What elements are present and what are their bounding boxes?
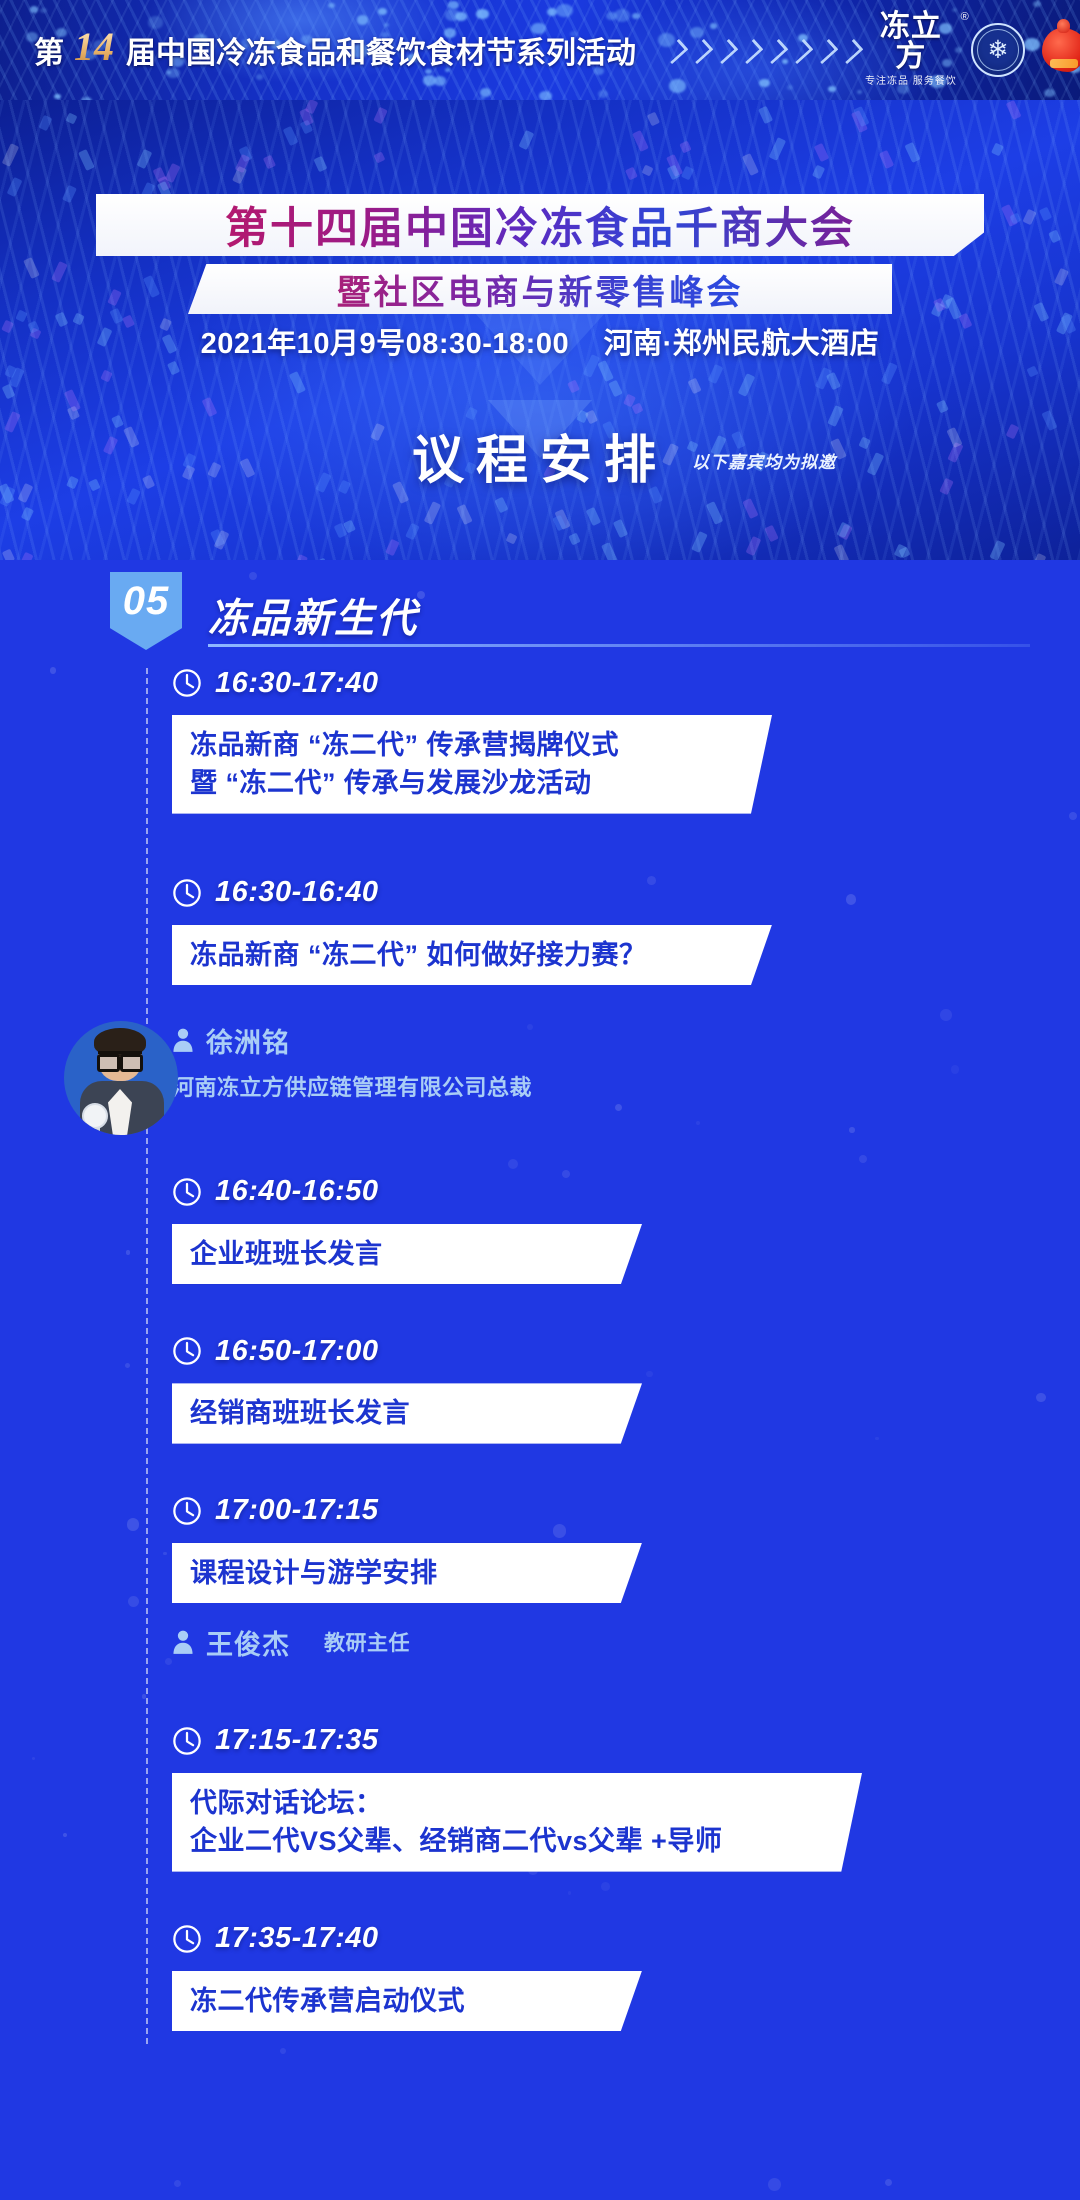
agenda-item[interactable]: 16:50-17:00经销商班班长发言 (0, 1328, 1080, 1443)
agenda-heading: 议程安排 以下嘉宾均为拟邀 (0, 418, 1080, 493)
agenda-item-spacer (0, 1872, 1080, 1916)
agenda-list: 16:30-17:40冻品新商 “冻二代” 传承营揭牌仪式暨 “冻二代” 传承与… (0, 660, 1080, 2075)
donglifang-logo-slogan: 专注冻品 服务餐饮 (865, 76, 957, 87)
pixel-speck (764, 525, 779, 542)
speaker-text-block: 王俊杰教研主任 (172, 1623, 410, 1662)
section-divider (208, 644, 1030, 647)
clock-icon (172, 1496, 202, 1526)
hero-section: 第十四届中国冷冻食品千商大会 暨社区电商与新零售峰会 2021年10月9号08:… (0, 100, 1080, 560)
agenda-item-time-row: 17:35-17:40 (172, 1916, 1080, 1962)
agenda-item[interactable]: 17:00-17:15课程设计与游学安排王俊杰教研主任 (0, 1488, 1080, 1662)
agenda-item[interactable]: 16:30-16:40冻品新商 “冻二代” 如何做好接力赛？徐洲铭河南冻立方供应… (0, 870, 1080, 1125)
pixel-speck (882, 362, 899, 384)
pixel-speck (707, 364, 723, 384)
agenda-item-text: 课程设计与游学安排 (190, 1554, 622, 1592)
pixel-speck (1022, 209, 1036, 226)
event-title-plate: 第十四届中国冷冻食品千商大会 (96, 194, 984, 256)
pixel-speck (1054, 268, 1069, 286)
chevron-right-icon (768, 39, 780, 61)
clock-icon (172, 1924, 202, 1954)
pixel-speck (613, 519, 628, 538)
pixel-speck (706, 501, 723, 524)
chevron-right-icon (743, 39, 755, 61)
agenda-item-time: 17:00-17:15 (215, 1494, 379, 1527)
agenda-heading-title: 议程安排 (406, 418, 674, 493)
page-subtitle: 暨社区电商与新零售峰会 (337, 265, 744, 314)
pixel-speck (374, 151, 386, 163)
agenda-item-text: 经销商班班长发言 (190, 1394, 622, 1432)
agenda-item-text: 冻品新商 “冻二代” 传承营揭牌仪式 (190, 726, 752, 764)
avatar (64, 1021, 178, 1135)
event-datetime: 2021年10月9号08:30-18:00 (201, 328, 569, 360)
pixel-speck (826, 372, 841, 391)
pixel-speck (1030, 553, 1046, 560)
pixel-speck (642, 164, 654, 176)
agenda-item-time-row: 17:15-17:35 (172, 1718, 1080, 1764)
agenda-item-text: 企业二代VS父辈、经销商二代vs父辈 +导师 (190, 1822, 842, 1860)
agenda-item-time: 17:15-17:35 (215, 1724, 379, 1757)
agenda-item-speaker: 王俊杰教研主任 (172, 1623, 1080, 1662)
pixel-speck (405, 523, 419, 540)
pixel-speck (101, 370, 113, 383)
pixel-speck (288, 371, 305, 394)
pixel-speck (1038, 207, 1051, 222)
agenda-item-text: 冻二代传承营启动仪式 (190, 1982, 622, 2020)
pixel-speck (1010, 212, 1022, 224)
event-meta: 2021年10月9号08:30-18:00 河南·郑州民航大酒店 (0, 320, 1080, 362)
agenda-item-bar[interactable]: 冻品新商 “冻二代” 传承营揭牌仪式暨 “冻二代” 传承与发展沙龙活动 (172, 715, 772, 814)
speaker-name-row: 王俊杰教研主任 (172, 1623, 410, 1662)
banner-title-rest: 届中国冷冻食品和餐饮食材节系列活动 (126, 28, 636, 72)
section-title: 冻品新生代 (208, 586, 418, 644)
pixel-speck (586, 507, 601, 526)
pixel-speck (201, 397, 217, 417)
section-number: 05 (123, 579, 170, 624)
clock-icon (172, 1726, 202, 1756)
pixel-speck (758, 106, 773, 124)
banner-edition-number: 14 (74, 27, 114, 67)
speaker-name-row: 徐洲铭 (172, 1021, 532, 1060)
pixel-speck (1005, 100, 1021, 120)
pixel-speck (283, 126, 299, 146)
pixel-speck (1, 143, 18, 167)
agenda-item-speaker: 徐洲铭河南冻立方供应链管理有限公司总裁 (172, 1005, 1080, 1125)
pixel-speck (167, 360, 180, 374)
pixel-speck (136, 149, 152, 169)
pixel-speck (1048, 230, 1061, 243)
agenda-item-text: 冻品新商 “冻二代” 如何做好接力赛？ (190, 936, 752, 974)
agenda-item-time: 16:30-17:40 (215, 667, 379, 700)
agenda-item[interactable]: 16:30-17:40冻品新商 “冻二代” 传承营揭牌仪式暨 “冻二代” 传承与… (0, 660, 1080, 814)
pixel-speck (681, 166, 694, 181)
donglifang-logo-text: 冻立方 (880, 10, 942, 73)
pixel-speck (506, 532, 518, 544)
speaker-title: 教研主任 (324, 1627, 410, 1657)
person-icon (172, 1629, 194, 1655)
agenda-item-bar[interactable]: 企业班班长发言 (172, 1224, 642, 1284)
pixel-speck (38, 115, 52, 131)
page-title: 第十四届中国冷冻食品千商大会 (225, 194, 855, 256)
pixel-speck (769, 137, 786, 160)
pixel-speck (51, 261, 67, 283)
agenda-item-time-row: 16:30-16:40 (172, 870, 1080, 916)
pixel-speck (373, 107, 388, 125)
decorative-dot (174, 2180, 181, 2187)
agenda-item-time: 16:30-16:40 (215, 876, 379, 909)
banner-logos: 冻立方 ® 专注冻品 服务餐饮 ❄ (865, 12, 1080, 88)
agenda-item-bar[interactable]: 经销商班班长发言 (172, 1383, 642, 1443)
pixel-speck (905, 142, 921, 163)
pixel-speck (165, 163, 181, 183)
pixel-speck (632, 130, 649, 152)
speaker-text-block: 徐洲铭河南冻立方供应链管理有限公司总裁 (172, 1021, 532, 1102)
decorative-dot (768, 2178, 781, 2191)
agenda-item-time: 16:50-17:00 (215, 1335, 379, 1368)
pixel-speck (647, 112, 660, 127)
agenda-item-spacer (0, 1284, 1080, 1328)
chevron-right-icon (793, 39, 805, 61)
pixel-speck (2, 549, 15, 560)
agenda-item[interactable]: 17:35-17:40冻二代传承营启动仪式 (0, 1916, 1080, 2031)
registered-mark-icon: ® (961, 12, 969, 23)
speaker-name: 徐洲铭 (206, 1021, 290, 1060)
pixel-speck (518, 129, 534, 149)
pixel-speck (62, 185, 77, 203)
agenda-item-time: 17:35-17:40 (215, 1922, 379, 1955)
clock-icon (172, 1177, 202, 1207)
agenda-item-spacer (0, 1444, 1080, 1488)
agenda-item-text: 代际对话论坛： (190, 1784, 842, 1822)
chevron-right-icon (668, 39, 680, 61)
pixel-speck (991, 143, 1004, 157)
pixel-speck (679, 141, 691, 154)
pixel-speck (813, 143, 828, 162)
clock-icon (172, 668, 202, 698)
pixel-speck (78, 149, 95, 171)
agenda-item-text: 企业班班长发言 (190, 1235, 622, 1273)
pixel-speck (742, 153, 759, 176)
pixel-speck (936, 400, 949, 414)
agenda-item-text: 暨 “冻二代” 传承与发展沙龙活动 (190, 764, 752, 802)
section-header: 05 冻品新生代 (110, 572, 970, 652)
snowflake-emblem-icon: ❄ (971, 23, 1025, 77)
banner-prefix: 第 (34, 28, 64, 72)
speaker-name: 王俊杰 (206, 1623, 290, 1662)
pixel-speck (107, 289, 121, 306)
donglifang-logo: 冻立方 ® 专注冻品 服务餐饮 (865, 12, 957, 88)
pixel-speck (746, 536, 762, 556)
agenda-heading-note: 以下嘉宾均为拟邀 (692, 448, 836, 473)
agenda-item-spacer (0, 814, 1080, 870)
pixel-speck (569, 532, 581, 545)
agenda-item-bar[interactable]: 课程设计与游学安排 (172, 1543, 642, 1603)
person-icon (172, 1027, 194, 1053)
pixel-speck (424, 501, 441, 524)
pixel-speck (632, 403, 644, 415)
pixel-speck (691, 531, 708, 553)
agenda-item-time-row: 16:30-17:40 (172, 660, 1080, 706)
chevron-right-icon (693, 39, 705, 61)
pixel-speck (143, 275, 160, 298)
pixel-speck (879, 150, 894, 169)
top-banner: 第 14 届中国冷冻食品和餐饮食材节系列活动 冻立方 ® 专注冻品 服务餐饮 ❄ (0, 0, 1080, 100)
pixel-speck (833, 544, 849, 560)
agenda-item-bar[interactable]: 代际对话论坛：企业二代VS父辈、经销商二代vs父辈 +导师 (172, 1773, 862, 1872)
clock-icon (172, 1336, 202, 1366)
agenda-item-time-row: 17:00-17:15 (172, 1488, 1080, 1534)
clock-icon (172, 878, 202, 908)
pixel-speck (737, 373, 754, 397)
chevron-right-icon-group (668, 39, 855, 61)
chevron-right-icon (818, 39, 830, 61)
agenda-item-bar[interactable]: 冻品新商 “冻二代” 如何做好接力赛？ (172, 925, 772, 985)
agenda-item-spacer (0, 2031, 1080, 2075)
mascot-icon (1039, 23, 1080, 77)
chevron-right-icon (718, 39, 730, 61)
pixel-speck (601, 542, 618, 560)
speaker-title: 河南冻立方供应链管理有限公司总裁 (172, 1070, 532, 1102)
chevron-right-icon (843, 39, 855, 61)
pixel-speck (7, 177, 23, 197)
pixel-speck (1027, 366, 1039, 378)
agenda-item-time-row: 16:50-17:00 (172, 1328, 1080, 1374)
section-number-badge: 05 (110, 572, 182, 650)
pixel-speck (625, 167, 638, 181)
pixel-speck (456, 504, 472, 525)
agenda-item-time: 16:40-16:50 (215, 1175, 379, 1208)
agenda-item-spacer (0, 1662, 1080, 1718)
pixel-speck (811, 165, 824, 180)
pixel-speck (314, 156, 328, 173)
pixel-speck (263, 155, 276, 170)
pixel-speck (23, 257, 40, 279)
agenda-item[interactable]: 17:15-17:35代际对话论坛：企业二代VS父辈、经销商二代vs父辈 +导师 (0, 1718, 1080, 1872)
agenda-item-bar[interactable]: 冻二代传承营启动仪式 (172, 1971, 642, 2031)
pixel-speck (495, 497, 509, 514)
pixel-speck (385, 539, 399, 556)
pixel-speck (20, 552, 34, 560)
decorative-dot (885, 2179, 892, 2186)
pixel-speck (687, 378, 701, 394)
pixel-speck (990, 539, 1006, 560)
agenda-item[interactable]: 16:40-16:50企业班班长发言 (0, 1169, 1080, 1284)
agenda-item-time-row: 16:40-16:50 (172, 1169, 1080, 1215)
pixel-speck (21, 506, 34, 520)
event-subtitle-plate: 暨社区电商与新零售峰会 (188, 264, 892, 314)
pixel-speck (235, 153, 251, 173)
pixel-speck (742, 498, 758, 519)
pixel-speck (65, 113, 77, 125)
event-venue: 河南·郑州民航大酒店 (604, 328, 880, 360)
